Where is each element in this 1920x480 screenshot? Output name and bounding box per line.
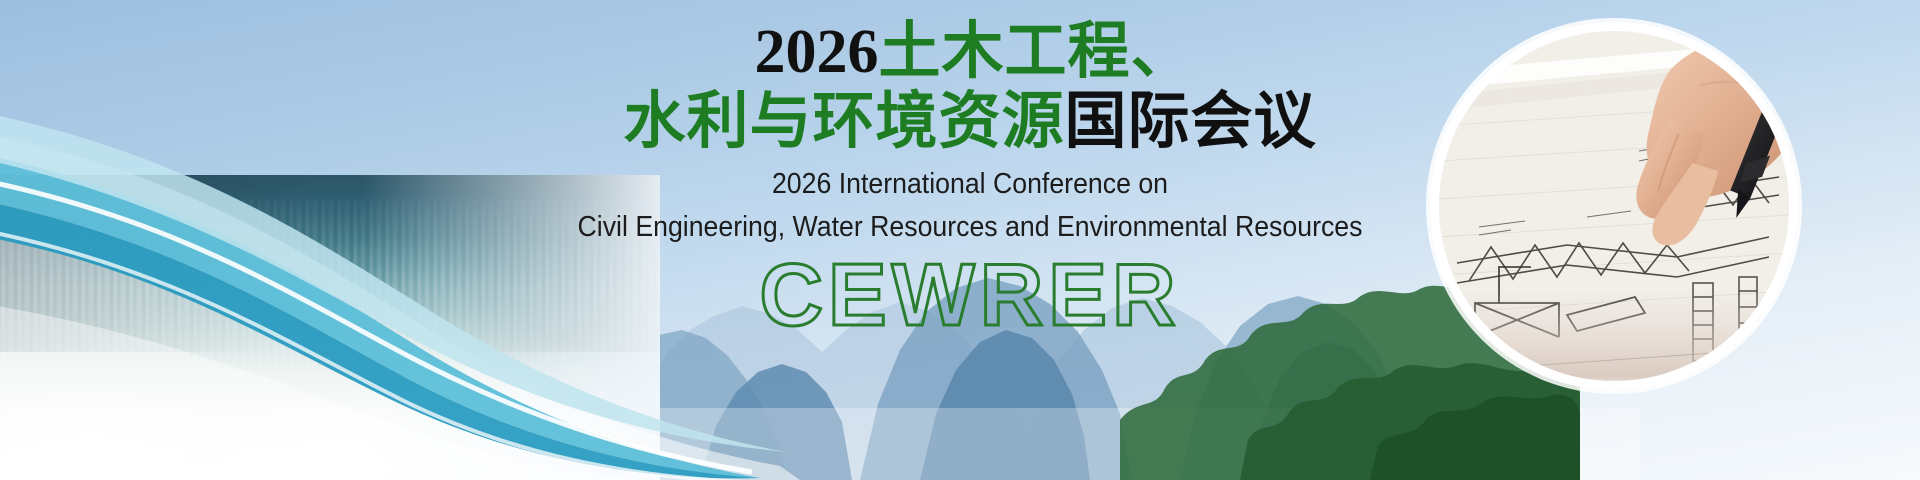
subtitle-english-line-1: 2026 International Conference on (556, 164, 1384, 204)
hand-with-pen (1551, 31, 1789, 290)
conference-banner: 2026土木工程、 水利与环境资源国际会议 2026 International… (0, 0, 1920, 480)
title-chinese-line-1: 2026土木工程、 (528, 18, 1420, 86)
hand-drawing-circular-photo (1430, 22, 1798, 390)
title-chinese-line-2-green: 水利与环境资源 (623, 87, 1064, 156)
conference-acronym: CEWRER (520, 249, 1420, 341)
conference-title-block: 2026土木工程、 水利与环境资源国际会议 2026 International… (520, 18, 1420, 341)
title-chinese-line-2: 水利与环境资源国际会议 (520, 88, 1420, 156)
subtitle-english-line-2: Civil Engineering, Water Resources and E… (556, 207, 1384, 247)
title-year: 2026 (754, 18, 878, 86)
title-chinese-line-2-black: 国际会议 (1065, 87, 1317, 156)
title-chinese-line-1-green: 土木工程、 (878, 17, 1193, 86)
